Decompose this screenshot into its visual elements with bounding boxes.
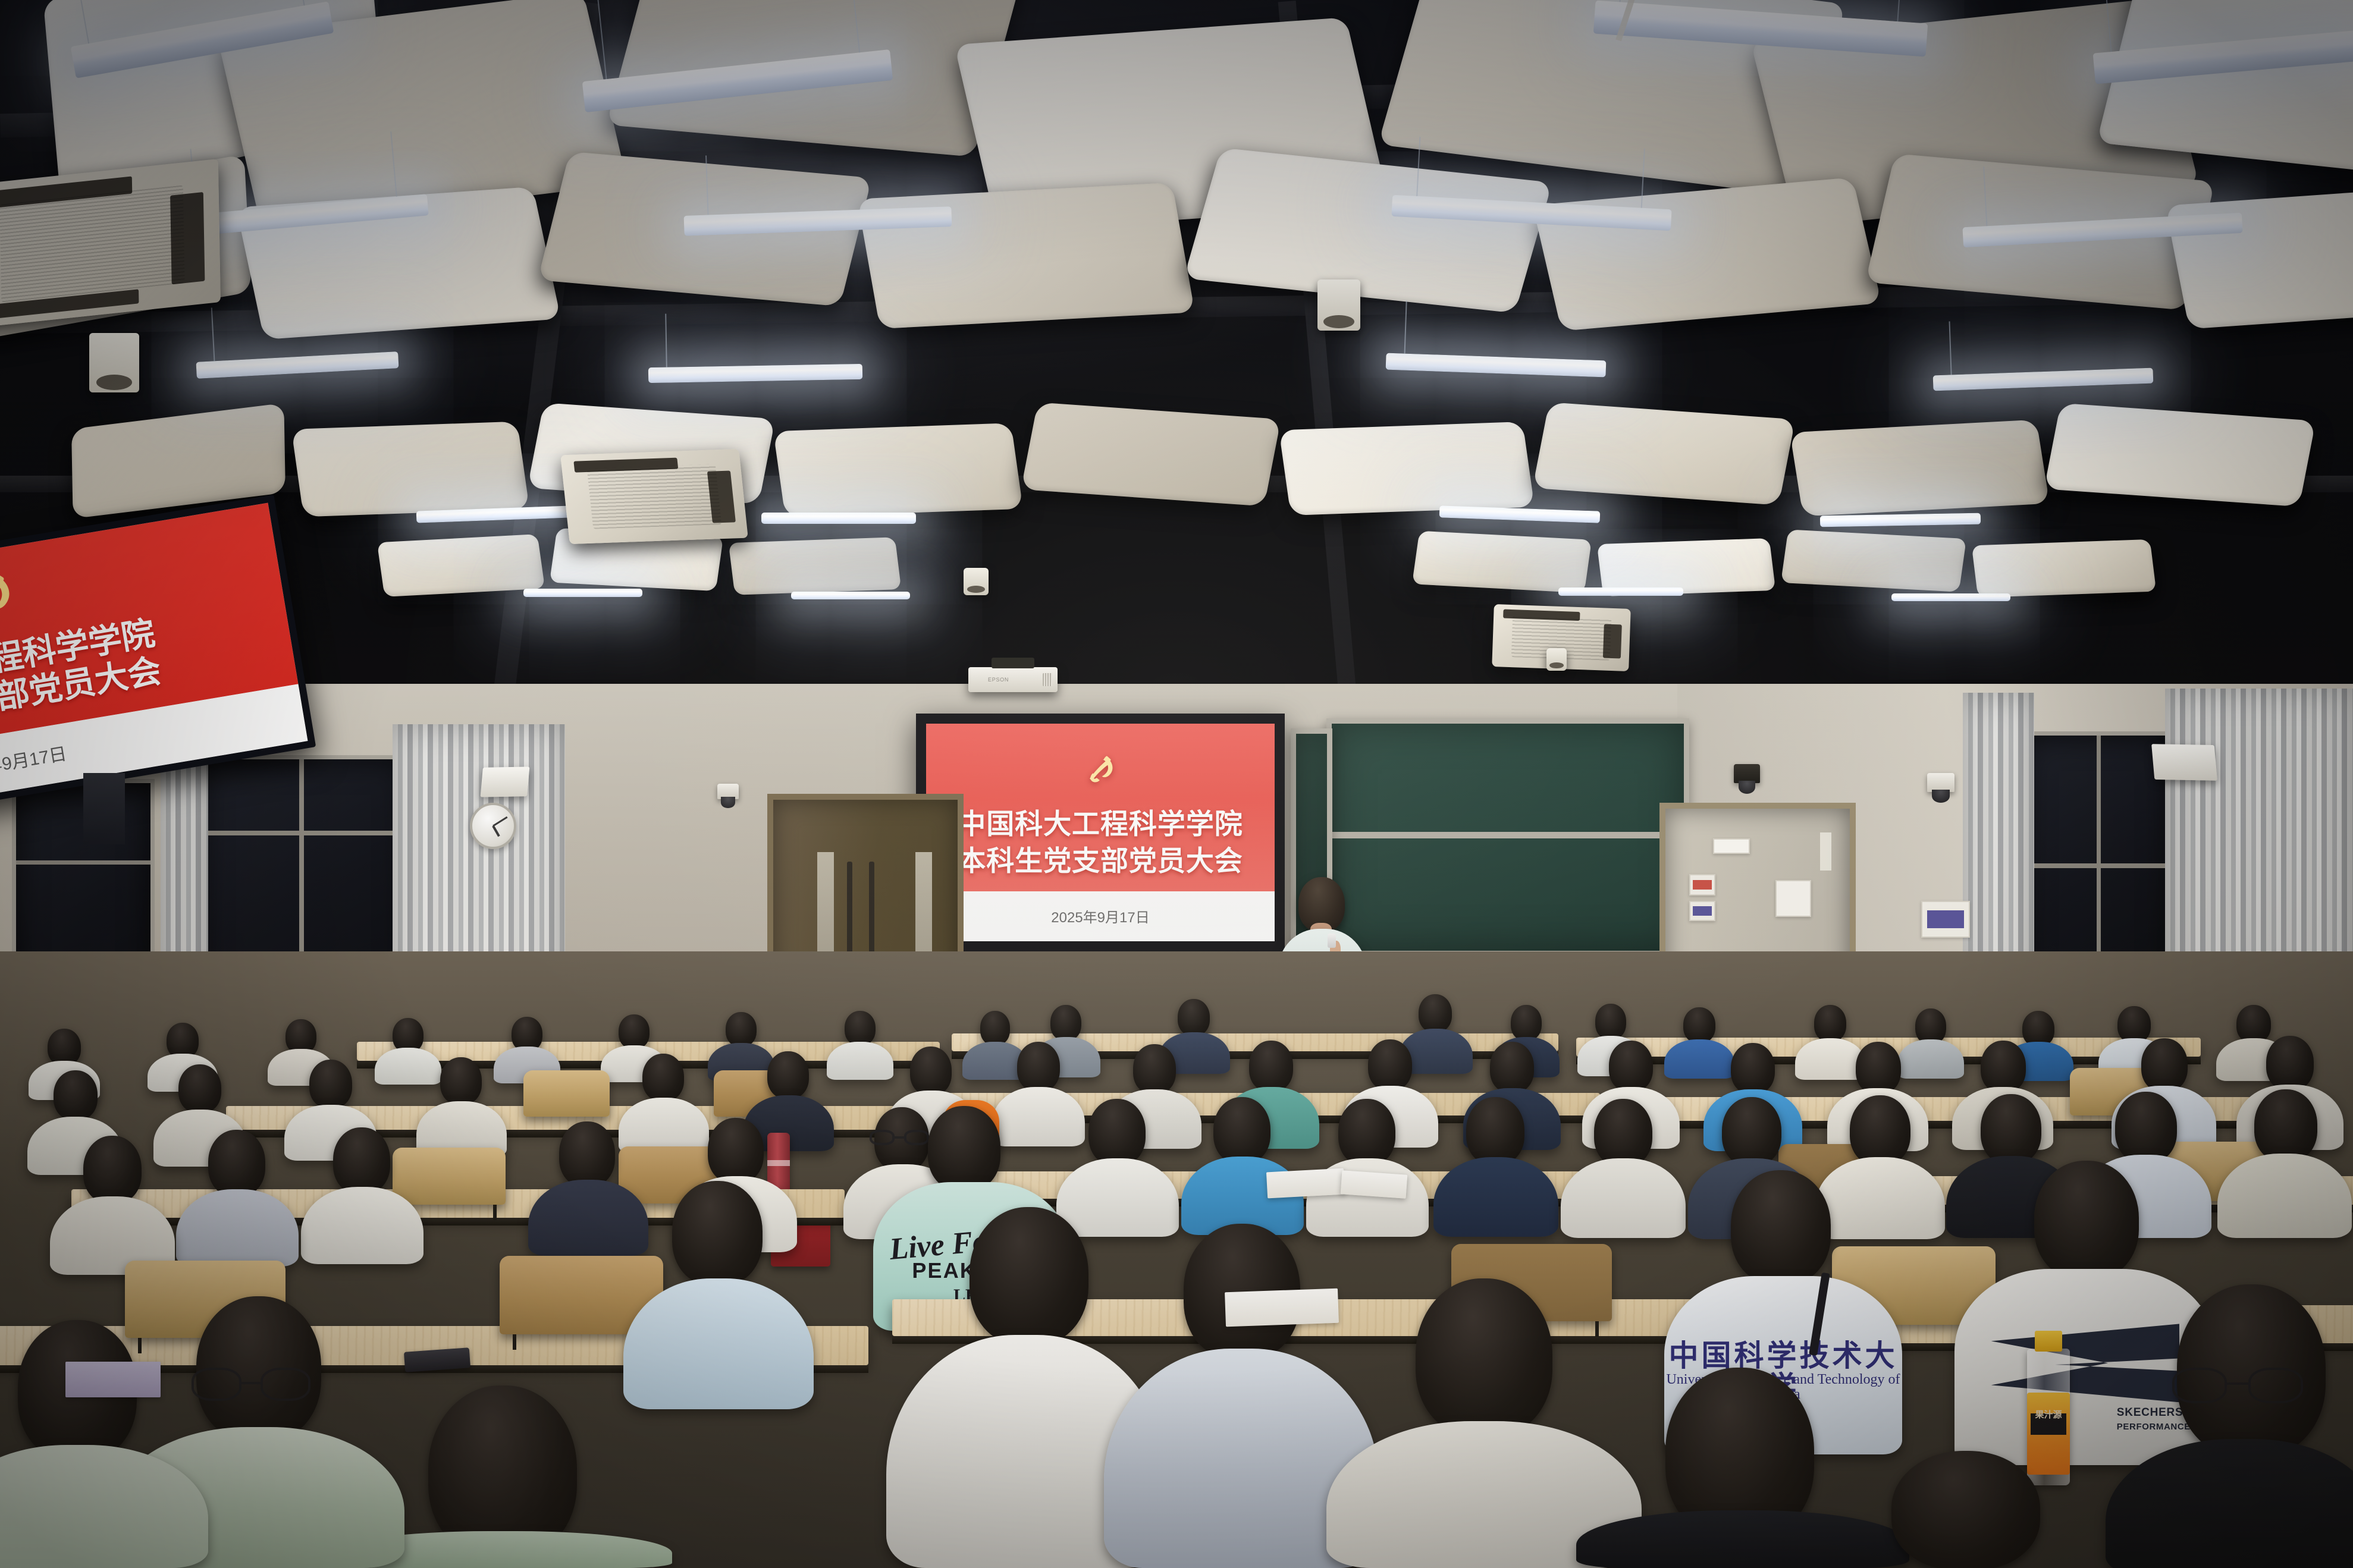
hammer-and-sickle-party-emblem — [1080, 751, 1121, 789]
safety-sign — [1689, 874, 1715, 895]
acoustic-panel — [2044, 403, 2316, 507]
audience-torso — [1795, 1038, 1865, 1080]
audience-torso — [375, 1048, 441, 1085]
audience-head — [2115, 1092, 2177, 1163]
audience-head — [54, 1070, 98, 1120]
tee-brand-word-2: PERFORMANCE — [2117, 1422, 2191, 1432]
acoustic-panel — [1532, 402, 1795, 505]
audience-head — [642, 1054, 684, 1101]
chalkboard — [1326, 718, 1689, 956]
audience-torso — [2217, 1154, 2352, 1238]
audience-head — [1731, 1170, 1831, 1284]
audience-head — [1050, 1005, 1081, 1041]
wall-clock — [470, 803, 516, 849]
skechers-s-logo — [1991, 1324, 2180, 1402]
monitor-date: 5年9月17日 — [0, 739, 68, 780]
desk-paper — [1225, 1289, 1339, 1327]
audience-head — [1511, 1005, 1542, 1041]
wall-label — [1713, 838, 1750, 854]
audience-head — [910, 1047, 952, 1095]
ceiling-light-fixture — [1820, 513, 1981, 527]
acoustic-panel — [1279, 422, 1535, 516]
chair — [393, 1148, 506, 1205]
audience-torso — [528, 1180, 648, 1256]
acoustic-panel — [1021, 403, 1281, 507]
acoustic-panel — [1972, 539, 2157, 598]
slide-body: 中国科大工程科学学院 本科生党支部党员大会 — [926, 724, 1275, 891]
acoustic-panel — [1781, 529, 1966, 592]
ceiling-light-fixture — [648, 364, 862, 383]
ceiling-speaker — [1317, 279, 1360, 331]
acoustic-panel — [377, 534, 545, 597]
audience-torso — [992, 1087, 1085, 1146]
ceiling-light-fixture — [1558, 587, 1683, 596]
ceiling-ac-unit — [560, 449, 748, 544]
audience-head — [1249, 1041, 1293, 1092]
wall-speaker — [2151, 744, 2217, 781]
ceiling-light-fixture — [196, 351, 399, 379]
security-camera — [1927, 773, 1954, 792]
audience-torso — [1815, 1157, 1945, 1239]
slide-footer: 2025年9月17日 — [926, 891, 1275, 941]
slide-date: 2025年9月17日 — [1051, 906, 1149, 926]
audience-torso — [619, 1098, 709, 1154]
ceiling-speaker — [964, 568, 989, 595]
audience-head — [1915, 1008, 1946, 1044]
audience-head — [1595, 1004, 1626, 1039]
juice-bottle-label: 果汁源 — [2034, 1408, 2063, 1421]
audience-head — [309, 1060, 352, 1108]
projection-screen: 中国科大工程科学学院 本科生党支部党员大会 2025年9月17日 — [916, 714, 1285, 951]
audience-torso — [1056, 1158, 1179, 1237]
audience-head — [767, 1051, 809, 1099]
audience-head — [196, 1296, 321, 1441]
audience-torso — [1576, 1510, 1909, 1568]
audience-head — [928, 1106, 1000, 1190]
audience-head — [1213, 1097, 1270, 1164]
audience-torso — [1897, 1039, 1964, 1079]
audience-head — [1178, 999, 1210, 1036]
audience-head — [1088, 1099, 1146, 1165]
audience-head — [1490, 1042, 1534, 1093]
audience-head — [83, 1136, 142, 1204]
projector-mount-bracket — [1734, 764, 1760, 783]
audience-head — [1017, 1042, 1060, 1092]
audience-torso — [1433, 1157, 1558, 1237]
acoustic-panel — [857, 183, 1195, 329]
audience-head — [708, 1118, 764, 1183]
slide-title-line-2: 本科生党支部党员大会 — [958, 844, 1243, 878]
slide: 中国科大工程科学学院 本科生党支部党员大会 2025年9月17日 — [926, 724, 1275, 941]
audience-head — [1419, 994, 1452, 1032]
audience-head — [1416, 1278, 1552, 1437]
notebook — [65, 1362, 161, 1397]
audience-head — [1981, 1041, 2026, 1093]
safety-sign — [1689, 901, 1715, 921]
chair — [523, 1070, 610, 1117]
audience-head — [48, 1029, 81, 1066]
audience-head — [980, 1011, 1010, 1045]
ceiling-projector: EPSON — [968, 667, 1058, 692]
audience-head — [1722, 1097, 1781, 1166]
audience-head — [1594, 1099, 1652, 1167]
audience-head — [1338, 1099, 1395, 1165]
audience-head — [1133, 1044, 1176, 1094]
audience-head — [2022, 1011, 2054, 1047]
audience-head — [970, 1207, 1088, 1345]
wall-label — [1921, 901, 1970, 938]
ceiling-light-fixture — [1933, 368, 2154, 391]
projector-brand-label: EPSON — [988, 677, 1009, 683]
desk-paper — [1341, 1170, 1408, 1199]
hammer-and-sickle-party-emblem — [0, 561, 32, 636]
audience-head — [2236, 1005, 2271, 1043]
audience-head — [726, 1012, 757, 1047]
ceiling — [0, 0, 2353, 702]
audience-head — [1856, 1042, 1901, 1094]
acoustic-panel — [729, 537, 902, 595]
audience-head — [2034, 1161, 2139, 1280]
acoustic-panel — [1790, 420, 2050, 517]
acoustic-panel — [2165, 188, 2353, 329]
audience-head — [2117, 1006, 2151, 1043]
audience-head — [440, 1057, 482, 1105]
audience-head — [178, 1064, 221, 1113]
audience-head — [1981, 1094, 2041, 1164]
ceiling-speaker — [89, 333, 139, 392]
audience-torso — [301, 1187, 423, 1264]
audience-head — [2254, 1089, 2317, 1162]
audience-torso — [1664, 1039, 1734, 1079]
ceiling-light-fixture — [1439, 505, 1601, 523]
audience-head — [672, 1181, 763, 1286]
ceiling-ac-unit — [0, 159, 221, 329]
slide-title-line-1: 中国科大工程科学学院 — [958, 807, 1243, 841]
audience-torso — [827, 1042, 893, 1080]
audience-head — [1368, 1039, 1412, 1091]
desk-paper — [1266, 1168, 1345, 1199]
audience-head — [2266, 1036, 2314, 1091]
audience-torso — [176, 1189, 299, 1267]
wall-speaker — [481, 766, 530, 797]
tee-brand-word-1: SKECHERS — [2117, 1406, 2183, 1419]
ceiling-light-fixture — [1386, 353, 1607, 378]
ceiling-light-fixture — [523, 589, 642, 597]
audience-head — [2141, 1038, 2188, 1092]
audience-head — [1814, 1005, 1846, 1042]
lecture-hall-photo: 中国科大工程科学学院 本科生党支部党员大会 2025年9月17日 EPSON — [0, 0, 2353, 1568]
audience-head — [333, 1127, 390, 1194]
audience-head — [1683, 1007, 1715, 1043]
audience-head — [874, 1107, 929, 1171]
audience-head — [167, 1023, 199, 1058]
monitor-stand — [83, 773, 125, 844]
ceiling-light-fixture — [761, 513, 916, 524]
audience-head — [619, 1014, 650, 1049]
acoustic-panel — [291, 422, 529, 517]
audience-head — [1731, 1043, 1775, 1094]
audience-head — [1466, 1097, 1524, 1165]
audience-head — [1609, 1041, 1653, 1092]
audience-head — [2177, 1284, 2326, 1457]
acoustic-panel — [1412, 531, 1592, 593]
audience-torso — [1561, 1158, 1686, 1238]
security-camera — [717, 784, 739, 799]
room-notice — [1775, 880, 1811, 917]
ceiling-light-fixture — [791, 592, 910, 599]
acoustic-panel — [773, 423, 1023, 517]
audience-head — [1891, 1451, 2040, 1568]
audience-head — [1850, 1095, 1910, 1165]
ceiling-light-fixture — [1891, 593, 2010, 601]
microphone — [1328, 934, 1336, 948]
audience-head — [208, 1130, 265, 1196]
ceiling-speaker — [1546, 648, 1567, 671]
acoustic-panel — [1184, 147, 1552, 313]
audience-head — [845, 1011, 876, 1045]
audience-head — [559, 1121, 615, 1187]
